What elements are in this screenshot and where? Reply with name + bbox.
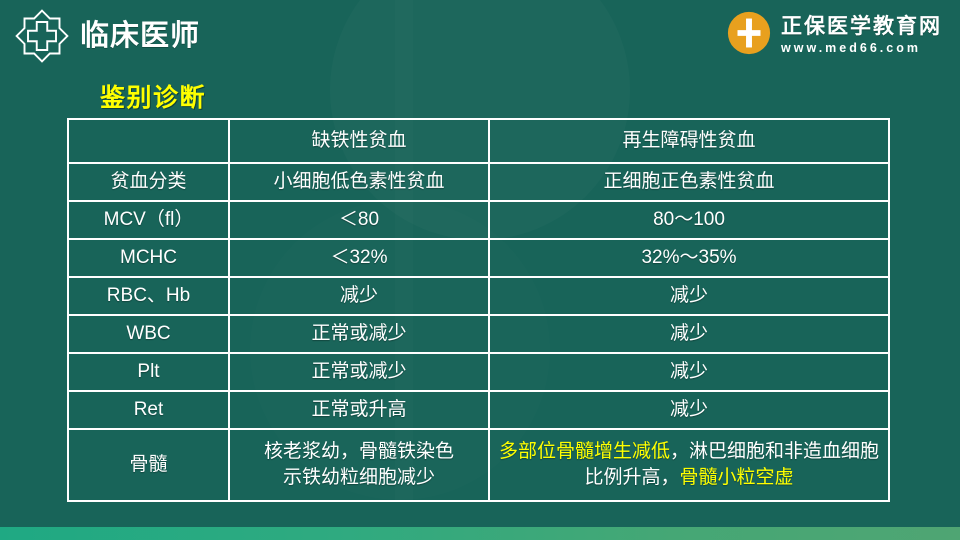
page-title: 鉴别诊断	[100, 78, 206, 114]
row-label: RBC、Hb	[68, 277, 229, 315]
row-label	[68, 119, 229, 163]
comparison-table-wrapper: 缺铁性贫血 再生障碍性贫血 贫血分类 小细胞低色素性贫血 正细胞正色素性贫血 M…	[67, 118, 888, 502]
cell-ida: ＜80	[229, 201, 489, 239]
cell-ida: 正常或升高	[229, 391, 489, 429]
slide-canvas: 临床医师 正保医学教育网 www.med66.com	[0, 0, 960, 540]
cell-ida: 正常或减少	[229, 315, 489, 353]
cell-aa: 减少	[489, 353, 889, 391]
right-brand-text-block: 正保医学教育网 www.med66.com	[781, 16, 942, 55]
row-label: Plt	[68, 353, 229, 391]
column-header-ida: 缺铁性贫血	[229, 119, 489, 163]
right-brand-title: 正保医学教育网	[781, 16, 942, 37]
marrow-ida-line1: 核老浆幼，骨髓铁染色	[264, 441, 454, 462]
marrow-ida-line2: 示铁幼粒细胞减少	[283, 467, 435, 488]
right-brand-block: 正保医学教育网 www.med66.com	[726, 10, 942, 61]
cell-ida-marrow: 核老浆幼，骨髓铁染色 示铁幼粒细胞减少	[229, 429, 489, 501]
table-row: RBC、Hb 减少 减少	[68, 277, 889, 315]
slide-header: 临床医师 正保医学教育网 www.med66.com	[0, 0, 960, 76]
row-label: 骨髓	[68, 429, 229, 501]
cell-aa: 减少	[489, 391, 889, 429]
row-label: WBC	[68, 315, 229, 353]
left-brand-title: 临床医师	[80, 22, 200, 51]
table-row: 贫血分类 小细胞低色素性贫血 正细胞正色素性贫血	[68, 163, 889, 201]
row-label: MCV（fl）	[68, 201, 229, 239]
cell-ida: 减少	[229, 277, 489, 315]
bottom-accent-bar	[0, 527, 960, 540]
table-row-marrow: 骨髓 核老浆幼，骨髓铁染色 示铁幼粒细胞减少 多部位骨髓增生减低，淋巴细胞和非造…	[68, 429, 889, 501]
cell-aa: 正细胞正色素性贫血	[489, 163, 889, 201]
right-brand-url: www.med66.com	[781, 42, 942, 55]
table-row: Ret 正常或升高 减少	[68, 391, 889, 429]
cell-aa: 减少	[489, 277, 889, 315]
table-row: Plt 正常或减少 减少	[68, 353, 889, 391]
left-brand-block: 临床医师	[14, 8, 200, 64]
row-label: Ret	[68, 391, 229, 429]
cell-aa-marrow: 多部位骨髓增生减低，淋巴细胞和非造血细胞比例升高，骨髓小粒空虚	[489, 429, 889, 501]
marrow-aa-part3: 骨髓小粒空虚	[680, 467, 794, 488]
cell-aa: 32%～35%	[489, 239, 889, 277]
cell-aa: 80～100	[489, 201, 889, 239]
marrow-aa-part1: 多部位骨髓增生减低	[499, 441, 670, 462]
column-header-aa: 再生障碍性贫血	[489, 119, 889, 163]
table-row: MCV（fl） ＜80 80～100	[68, 201, 889, 239]
table-row: MCHC ＜32% 32%～35%	[68, 239, 889, 277]
cell-ida: 小细胞低色素性贫血	[229, 163, 489, 201]
cell-ida: 正常或减少	[229, 353, 489, 391]
comparison-table: 缺铁性贫血 再生障碍性贫血 贫血分类 小细胞低色素性贫血 正细胞正色素性贫血 M…	[67, 118, 890, 502]
row-label: 贫血分类	[68, 163, 229, 201]
cell-ida: ＜32%	[229, 239, 489, 277]
table-row: WBC 正常或减少 减少	[68, 315, 889, 353]
row-label: MCHC	[68, 239, 229, 277]
table-row: 缺铁性贫血 再生障碍性贫血	[68, 119, 889, 163]
cell-aa: 减少	[489, 315, 889, 353]
medical-cross-icon	[14, 8, 70, 64]
med66-cross-circle-icon	[726, 10, 772, 61]
